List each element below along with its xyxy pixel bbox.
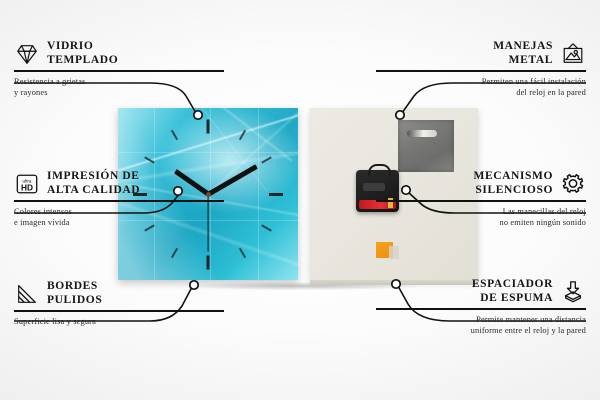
feature-description: Colores intensose imagen vívida	[14, 206, 224, 228]
feature-impresion-alta-calidad: ultra HD IMPRESIÓN DEALTA CALIDAD Colore…	[14, 170, 224, 228]
feature-header: ultra HD IMPRESIÓN DEALTA CALIDAD	[14, 170, 224, 197]
diamond-icon	[14, 42, 40, 66]
feature-header: VIDRIOTEMPLADO	[14, 40, 224, 67]
feature-title: IMPRESIÓN DEALTA CALIDAD	[47, 170, 140, 197]
clock-tick	[262, 224, 273, 231]
feature-header: ESPACIADORDE ESPUMA	[376, 278, 586, 305]
feature-rule	[14, 70, 224, 72]
feature-vidrio-templado: VIDRIOTEMPLADO Resistencia a grietasy ra…	[14, 40, 224, 98]
feature-title: MANEJASMETAL	[493, 40, 553, 67]
feature-title: VIDRIOTEMPLADO	[47, 40, 118, 67]
clock-tick	[207, 119, 210, 133]
svg-text:HD: HD	[21, 182, 33, 192]
clock-tick	[170, 130, 177, 141]
feature-header: MANEJASMETAL	[376, 40, 586, 67]
feature-bordes-pulidos: BORDESPULIDOS Superficie lisa y segura	[14, 280, 224, 327]
picture-frame-icon	[560, 42, 586, 66]
feature-description: Superficie lisa y segura	[14, 316, 224, 327]
feature-rule	[376, 200, 586, 202]
feature-mecanismo-silencioso: MECANISMOSILENCIOSO Las manecillas del r…	[376, 170, 586, 228]
feature-description: Resistencia a grietasy rayones	[14, 76, 224, 98]
gear-icon	[560, 172, 586, 196]
feature-description: Las manecillas del relojno emiten ningún…	[376, 206, 586, 228]
feature-rule	[376, 308, 586, 310]
feature-rule	[376, 70, 586, 72]
feature-espaciador-espuma: ESPACIADORDE ESPUMA Permite mantener una…	[376, 278, 586, 336]
feature-rule	[14, 310, 224, 312]
feature-description: Permite mantener una distanciauniforme e…	[376, 314, 586, 336]
hanger-slot	[407, 130, 437, 137]
ultra-hd-icon: ultra HD	[14, 172, 40, 196]
infographic-canvas: VIDRIOTEMPLADO Resistencia a grietasy ra…	[0, 0, 600, 400]
feature-manejas-metal: MANEJASMETAL Permiten una fácil instalac…	[376, 40, 586, 98]
clock-tick	[269, 193, 283, 196]
feature-header: BORDESPULIDOS	[14, 280, 224, 307]
feature-title: BORDESPULIDOS	[47, 280, 102, 307]
feature-description: Permiten una fácil instalacióndel reloj …	[376, 76, 586, 98]
clock-tick	[207, 255, 210, 269]
feature-header: MECANISMOSILENCIOSO	[376, 170, 586, 197]
arrow-down-pad-icon	[560, 280, 586, 304]
feature-title: ESPACIADORDE ESPUMA	[472, 278, 553, 305]
foam-spacer	[376, 242, 393, 258]
clock-tick	[170, 248, 177, 259]
clock-tick	[238, 248, 245, 259]
diagonal-stripes-icon	[14, 282, 40, 306]
feature-rule	[14, 200, 224, 202]
feature-title: MECANISMOSILENCIOSO	[473, 170, 553, 197]
metal-hanger-plate	[398, 120, 454, 172]
